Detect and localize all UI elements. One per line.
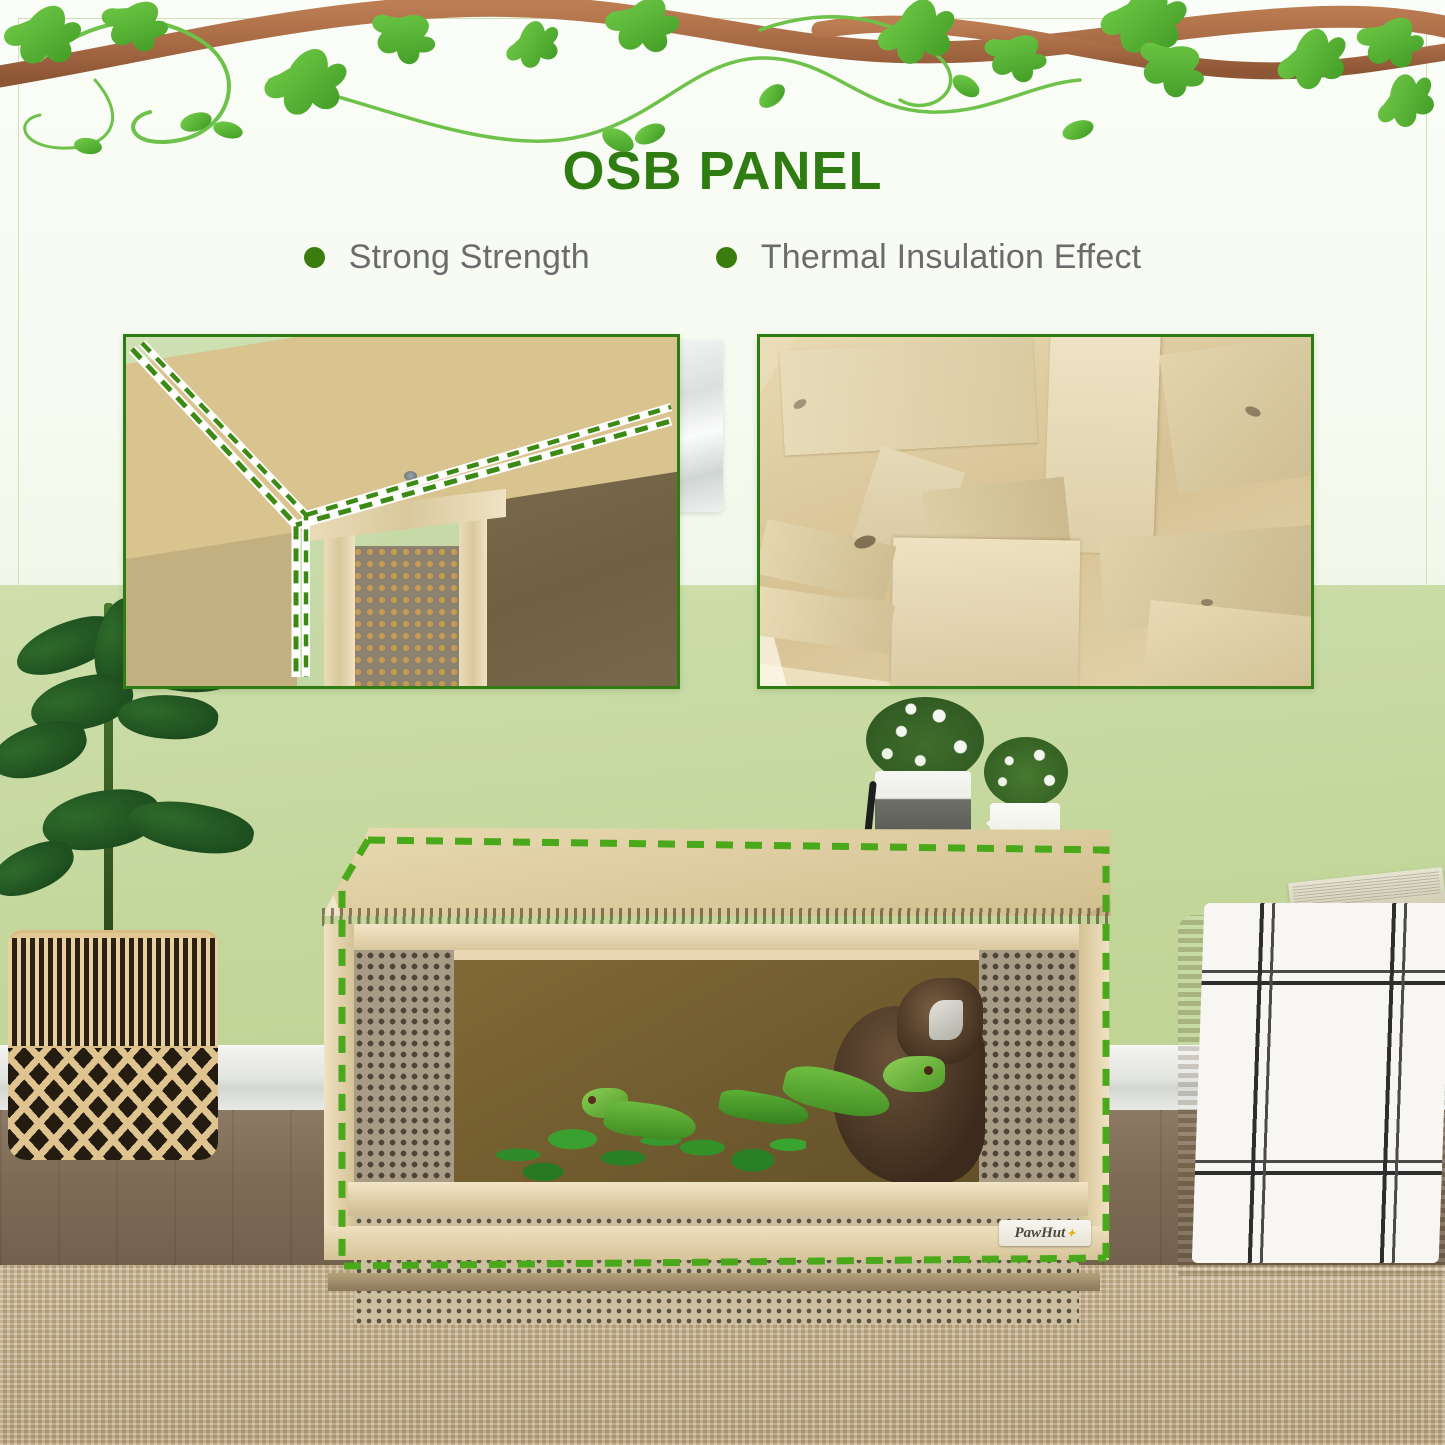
mesh-side-vent-left [354,950,454,1182]
bullet-dot-icon [716,247,737,268]
vivarium-front-face: PawHut✦ [324,924,1109,1254]
vine-leaf-border [0,0,1445,175]
detail-photo-corner-joint [123,334,680,689]
mesh-side-vent-right [979,950,1079,1182]
bullet-dot-icon [304,247,325,268]
feature-bullet-thermal-insulation: Thermal Insulation Effect [716,238,1141,277]
brand-logo-pawhut: PawHut✦ [999,1220,1091,1246]
plaid-throw-blanket [1192,903,1445,1263]
feature-label: Thermal Insulation Effect [761,238,1141,277]
feature-bullet-strong-strength: Strong Strength [304,238,590,277]
product-lifestyle-scene: PawHut✦ [0,585,1445,1445]
panel-image-right [760,337,1311,686]
osb-top-panel [322,828,1111,916]
highlight-dashed-outline [126,337,677,686]
product-infographic-poster: OSB PANEL Strong Strength Thermal Insula… [0,0,1445,1445]
detail-photo-osb-texture [757,334,1314,689]
osb-reptile-vivarium: PawHut✦ [322,828,1111,1277]
rattan-basket [8,930,218,1160]
brand-name: PawHut [1014,1225,1065,1242]
feature-bullet-list: Strong Strength Thermal Insulation Effec… [0,238,1445,277]
glass-viewing-window [454,960,979,1182]
feature-label: Strong Strength [349,238,590,277]
panel-image-left [126,337,677,686]
brand-spark-icon: ✦ [1066,1227,1075,1240]
